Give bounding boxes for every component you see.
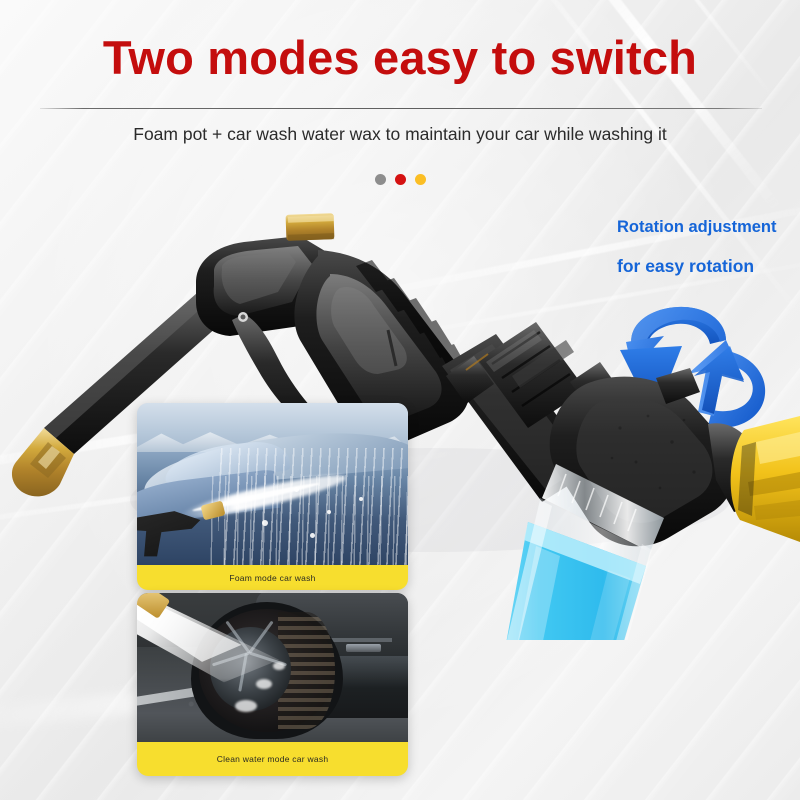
page-subtitle: Foam pot + car wash water wax to maintai… [0, 124, 800, 145]
card-clean-water-mode[interactable]: Clean water mode car wash [137, 593, 408, 776]
photo-droplet [327, 510, 331, 514]
page-title: Two modes easy to switch [0, 34, 800, 81]
photo-droplet [262, 520, 268, 526]
product-banner: Two modes easy to switch Foam pot + car … [0, 0, 800, 800]
card-caption-foam: Foam mode car wash [137, 565, 408, 590]
clean-water-photo [137, 593, 408, 742]
photo-splash [235, 700, 257, 712]
foam-mode-photo [137, 403, 408, 565]
header-divider [40, 108, 762, 109]
card-caption-clean-water: Clean water mode car wash [137, 742, 408, 776]
card-foam-mode[interactable]: Foam mode car wash [137, 403, 408, 590]
photo-splash [273, 662, 285, 670]
yellow-quick-connect [731, 416, 800, 542]
photo-door-handle [346, 644, 381, 652]
